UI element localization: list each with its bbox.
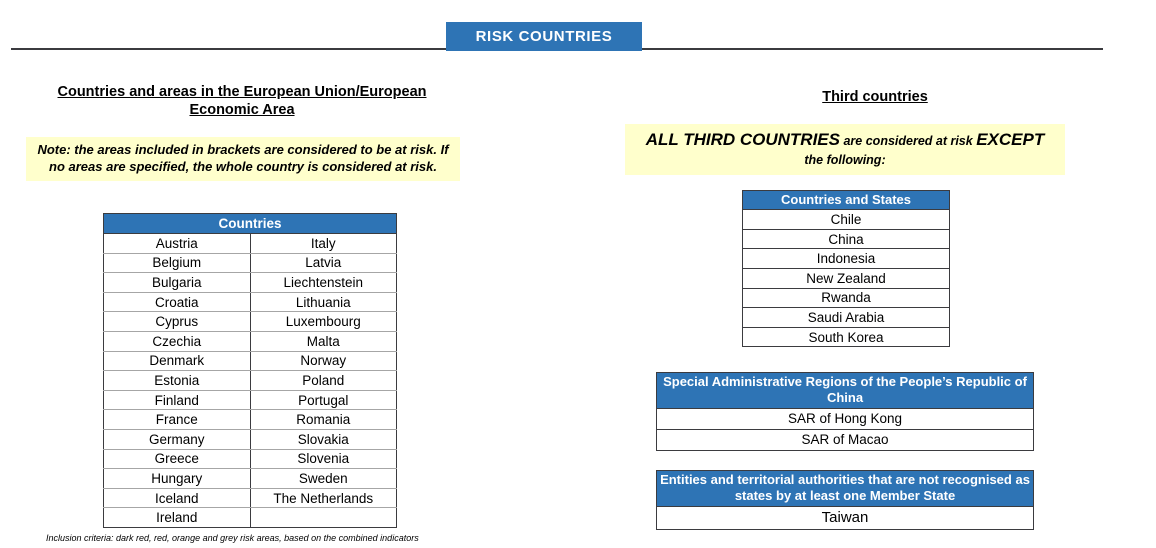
eu-country-cell: [250, 508, 397, 528]
eu-inclusion-criteria-footnote: Inclusion criteria: dark red, red, orang…: [46, 533, 486, 544]
table-row: Saudi Arabia: [743, 308, 950, 328]
table-row: Chile: [743, 210, 950, 230]
country-state-cell: Rwanda: [743, 288, 950, 308]
eu-country-cell: Ireland: [104, 508, 251, 528]
table-row: Rwanda: [743, 288, 950, 308]
sar-table-body: SAR of Hong KongSAR of Macao: [657, 408, 1034, 450]
eu-country-cell: Slovakia: [250, 429, 397, 449]
page-title: RISK COUNTRIES: [446, 22, 642, 51]
eu-section-heading: Countries and areas in the European Unio…: [36, 83, 448, 119]
entities-table-body: Taiwan: [657, 506, 1034, 529]
table-row: DenmarkNorway: [104, 351, 397, 371]
country-state-cell: South Korea: [743, 327, 950, 347]
third-countries-heading: Third countries: [698, 88, 1052, 106]
states-table-header: Countries and States: [743, 191, 950, 210]
country-state-cell: China: [743, 229, 950, 249]
table-row: BulgariaLiechtenstein: [104, 273, 397, 293]
eu-country-cell: Greece: [104, 449, 251, 469]
eu-country-cell: Germany: [104, 429, 251, 449]
eu-country-cell: Austria: [104, 234, 251, 254]
eu-country-cell: Slovenia: [250, 449, 397, 469]
table-row: South Korea: [743, 327, 950, 347]
eu-country-cell: Poland: [250, 371, 397, 391]
eu-country-cell: Portugal: [250, 390, 397, 410]
country-state-cell: New Zealand: [743, 269, 950, 289]
table-row: FinlandPortugal: [104, 390, 397, 410]
eu-country-cell: The Netherlands: [250, 488, 397, 508]
eu-country-cell: Estonia: [104, 371, 251, 391]
table-header-row: Entities and territorial authorities tha…: [657, 471, 1034, 507]
eu-country-cell: Finland: [104, 390, 251, 410]
table-row: New Zealand: [743, 269, 950, 289]
table-row: BelgiumLatvia: [104, 253, 397, 273]
eu-country-cell: Romania: [250, 410, 397, 430]
eu-country-cell: Croatia: [104, 292, 251, 312]
page-header: RISK COUNTRIES: [0, 0, 1156, 58]
note-middle-text: are considered at risk: [843, 134, 972, 148]
table-row: SAR of Macao: [657, 429, 1034, 450]
eu-country-cell: Norway: [250, 351, 397, 371]
table-row: China: [743, 229, 950, 249]
table-row: HungarySweden: [104, 469, 397, 489]
eu-country-cell: Hungary: [104, 469, 251, 489]
eu-country-cell: France: [104, 410, 251, 430]
eu-country-cell: Italy: [250, 234, 397, 254]
sar-region-cell: SAR of Hong Kong: [657, 408, 1034, 429]
table-row: GreeceSlovenia: [104, 449, 397, 469]
eu-eea-section: Countries and areas in the European Unio…: [0, 62, 512, 548]
eu-table-header: Countries: [104, 214, 397, 234]
table-row: AustriaItaly: [104, 234, 397, 254]
eu-country-cell: Cyprus: [104, 312, 251, 332]
eu-note-box: Note: the areas included in brackets are…: [26, 137, 460, 181]
country-state-cell: Chile: [743, 210, 950, 230]
note-tail-text: the following:: [804, 153, 885, 167]
sar-china-table: Special Administrative Regions of the Pe…: [656, 372, 1034, 451]
eu-country-cell: Malta: [250, 331, 397, 351]
table-row: SAR of Hong Kong: [657, 408, 1034, 429]
eu-country-cell: Sweden: [250, 469, 397, 489]
entity-cell: Taiwan: [657, 506, 1034, 529]
table-row: GermanySlovakia: [104, 429, 397, 449]
eu-country-cell: Luxembourg: [250, 312, 397, 332]
eu-country-cell: Czechia: [104, 331, 251, 351]
states-table-body: ChileChinaIndonesiaNew ZealandRwandaSaud…: [743, 210, 950, 347]
table-row: CyprusLuxembourg: [104, 312, 397, 332]
eu-country-cell: Latvia: [250, 253, 397, 273]
note-emphasis-except: EXCEPT: [976, 130, 1044, 149]
eu-table-body: AustriaItalyBelgiumLatviaBulgariaLiechte…: [104, 234, 397, 528]
third-countries-section: Third countries ALL THIRD COUNTRIES are …: [590, 62, 1156, 548]
table-header-row: Countries: [104, 214, 397, 234]
sar-table-header: Special Administrative Regions of the Pe…: [657, 373, 1034, 409]
eu-country-cell: Denmark: [104, 351, 251, 371]
entities-table-header: Entities and territorial authorities tha…: [657, 471, 1034, 507]
table-row: CzechiaMalta: [104, 331, 397, 351]
table-row: Indonesia: [743, 249, 950, 269]
eu-country-cell: Lithuania: [250, 292, 397, 312]
eu-countries-table: Countries AustriaItalyBelgiumLatviaBulga…: [103, 213, 397, 528]
table-row: IcelandThe Netherlands: [104, 488, 397, 508]
third-countries-note-box: ALL THIRD COUNTRIES are considered at ri…: [625, 124, 1065, 175]
countries-and-states-table: Countries and States ChileChinaIndonesia…: [742, 190, 950, 347]
note-emphasis-all-third-countries: ALL THIRD COUNTRIES: [646, 130, 840, 149]
eu-country-cell: Bulgaria: [104, 273, 251, 293]
table-row: Taiwan: [657, 506, 1034, 529]
table-row: CroatiaLithuania: [104, 292, 397, 312]
eu-country-cell: Iceland: [104, 488, 251, 508]
country-state-cell: Indonesia: [743, 249, 950, 269]
table-header-row: Countries and States: [743, 191, 950, 210]
eu-country-cell: Liechtenstein: [250, 273, 397, 293]
table-row: FranceRomania: [104, 410, 397, 430]
table-row: Ireland: [104, 508, 397, 528]
unrecognised-entities-table: Entities and territorial authorities tha…: [656, 470, 1034, 530]
sar-region-cell: SAR of Macao: [657, 429, 1034, 450]
eu-country-cell: Belgium: [104, 253, 251, 273]
table-header-row: Special Administrative Regions of the Pe…: [657, 373, 1034, 409]
table-row: EstoniaPoland: [104, 371, 397, 391]
country-state-cell: Saudi Arabia: [743, 308, 950, 328]
